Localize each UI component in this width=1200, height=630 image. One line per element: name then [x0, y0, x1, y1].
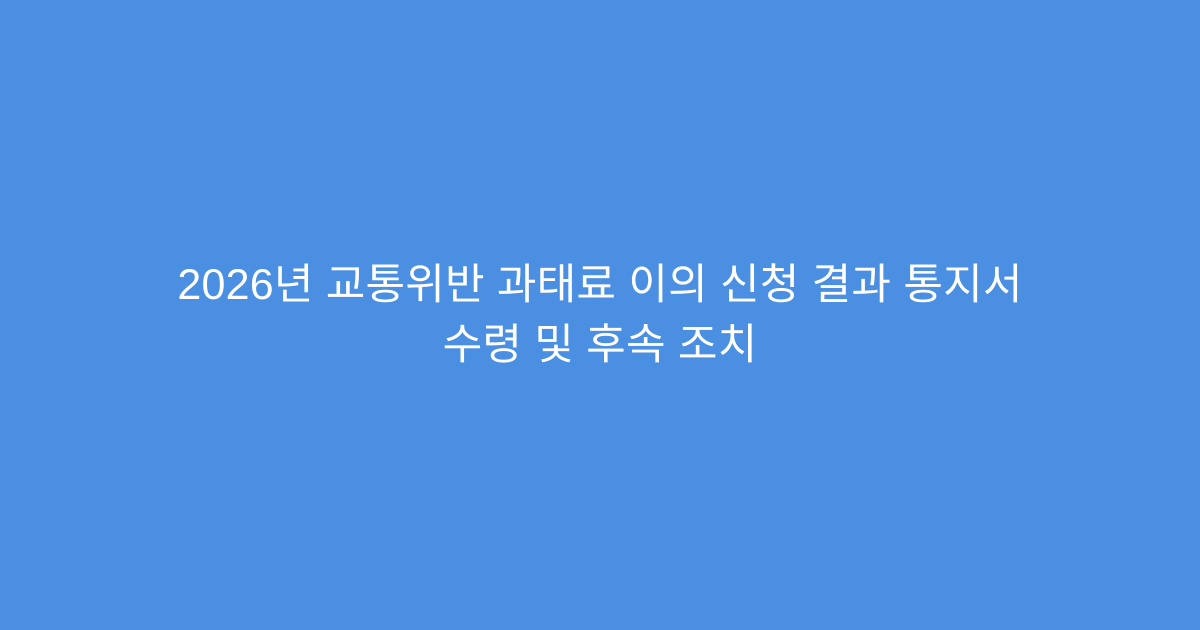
- title-card: 2026년 교통위반 과태료 이의 신청 결과 통지서 수령 및 후속 조치: [0, 0, 1200, 630]
- page-title: 2026년 교통위반 과태료 이의 신청 결과 통지서 수령 및 후속 조치: [70, 255, 1130, 375]
- title-block: 2026년 교통위반 과태료 이의 신청 결과 통지서 수령 및 후속 조치: [70, 255, 1130, 375]
